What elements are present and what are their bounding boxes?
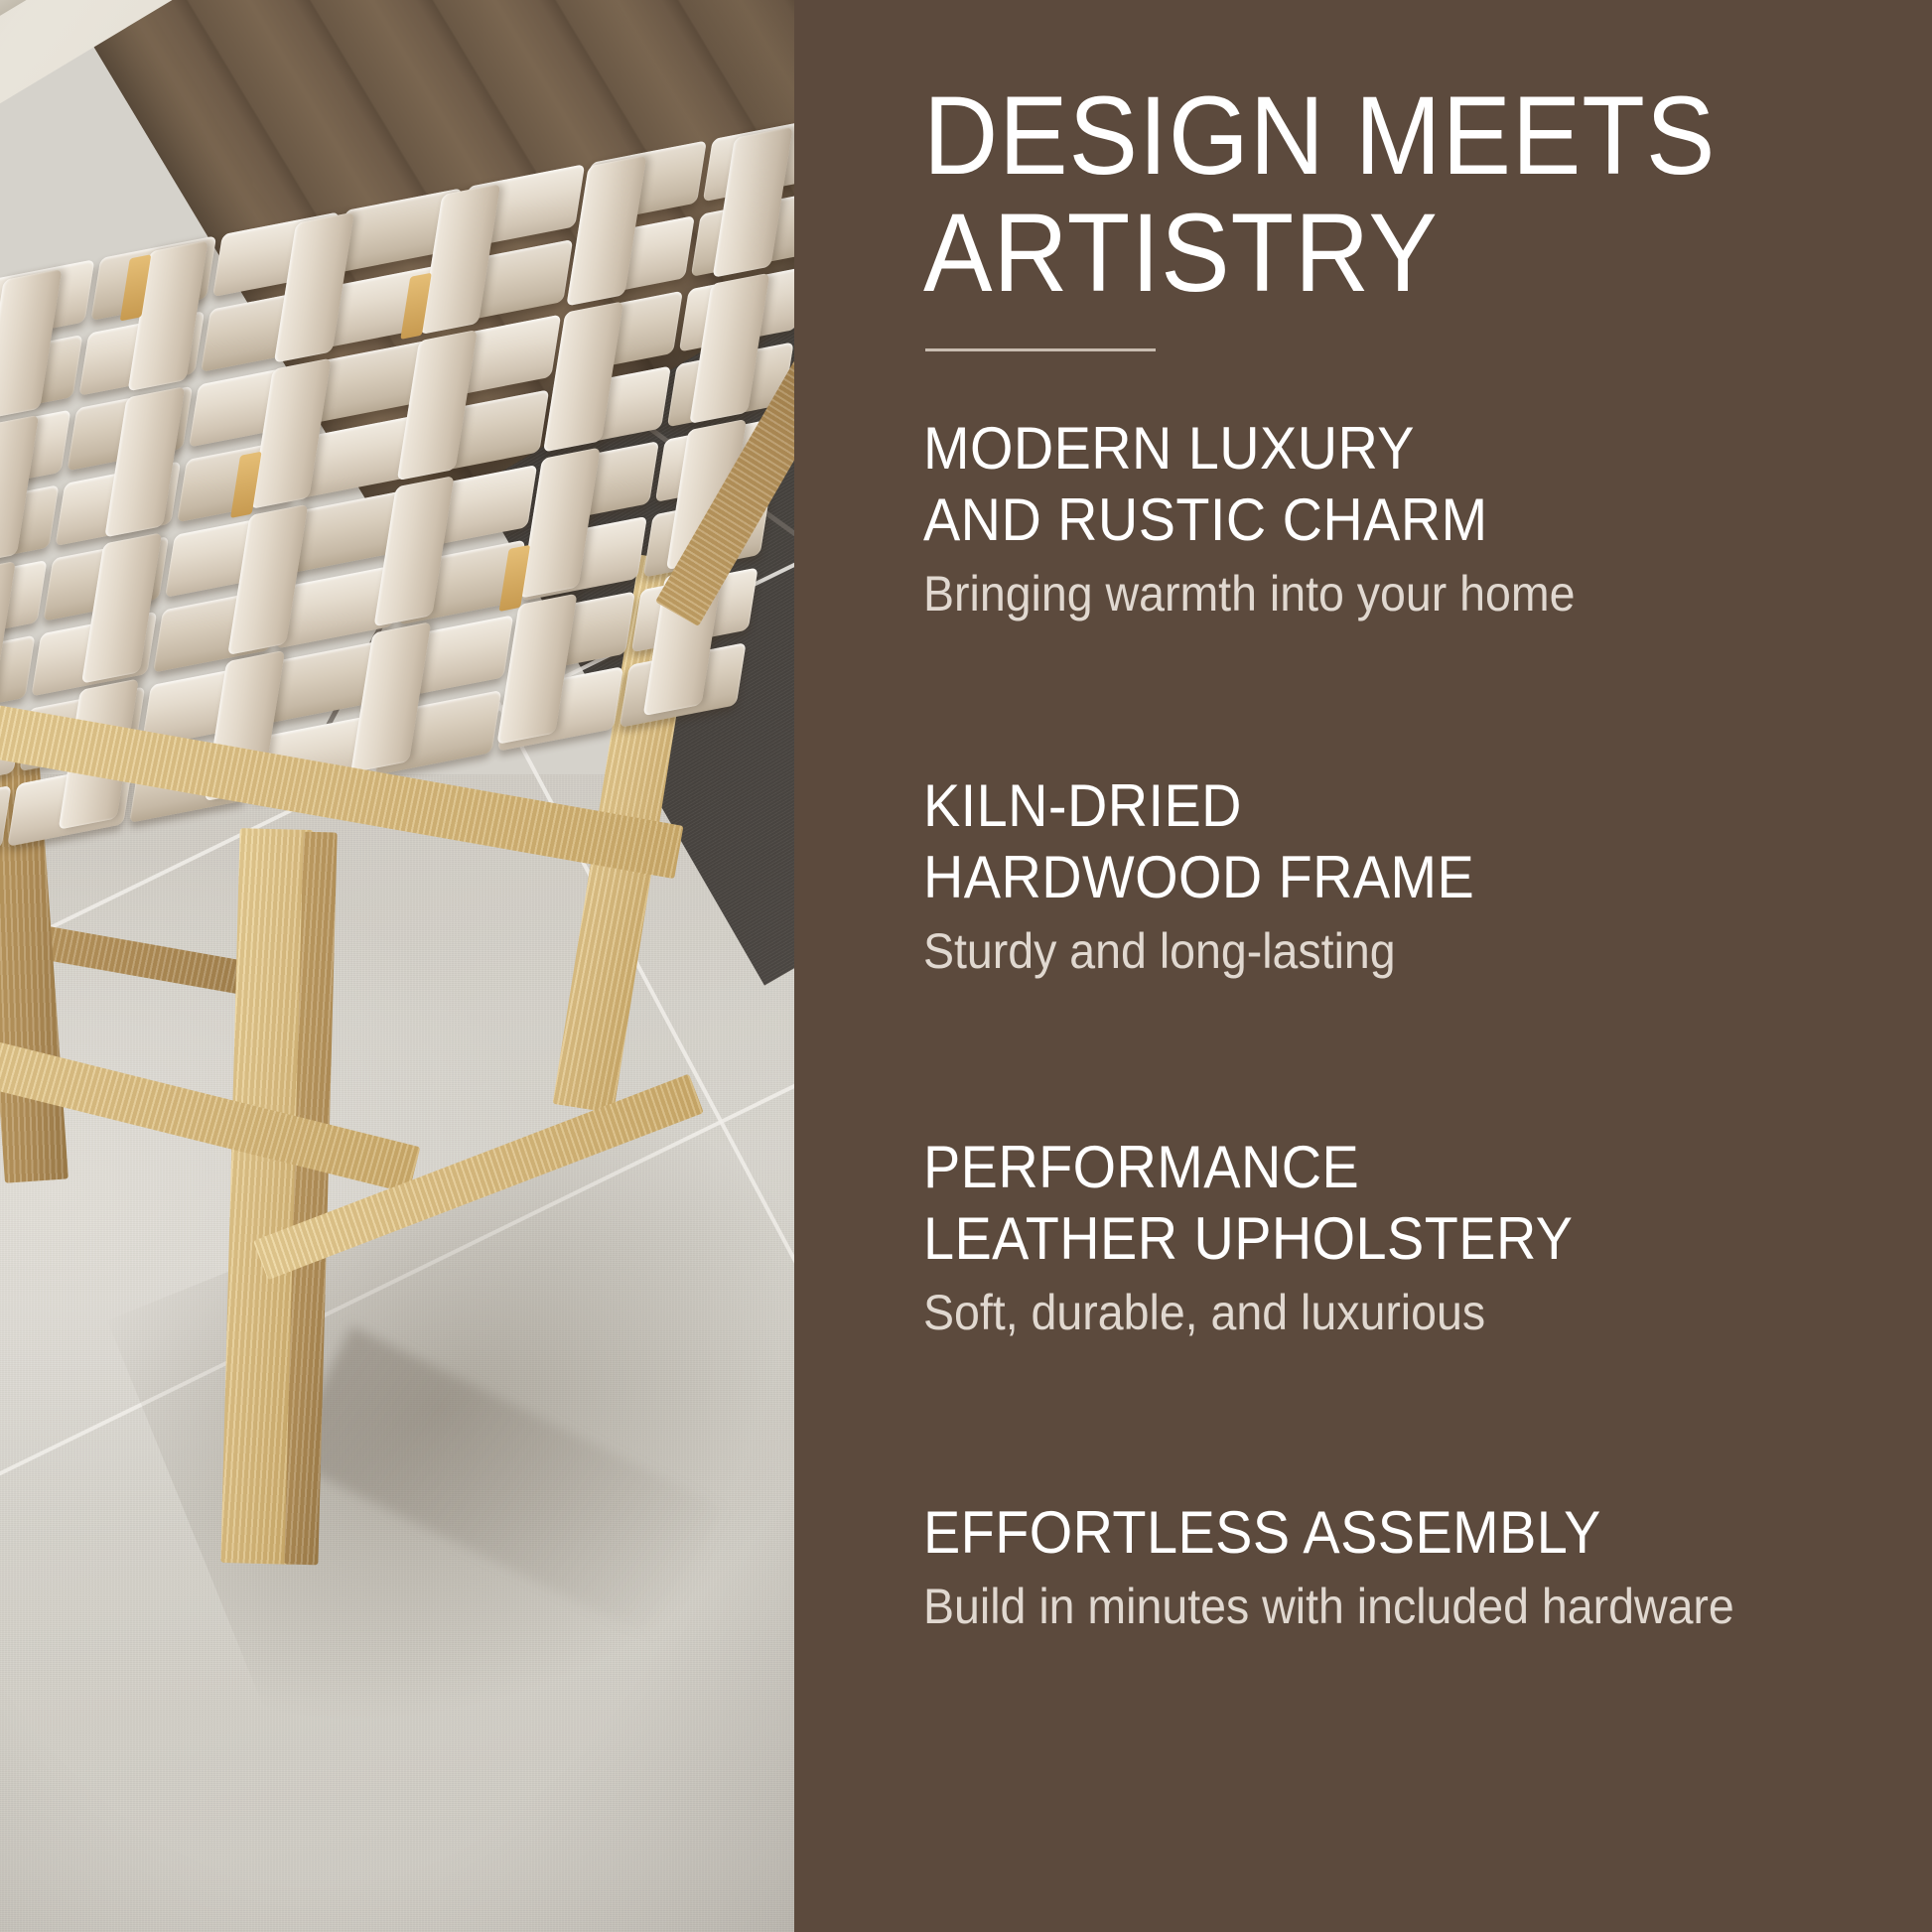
feature-subtitle: Sturdy and long-lasting: [923, 921, 1797, 981]
page-title: DESIGN MEETS ARTISTRY: [923, 77, 1797, 311]
feature-item-performance-leather: PERFORMANCE LEATHER UPHOLSTERY Soft, dur…: [923, 1132, 1863, 1342]
feature-item-effortless-assembly: EFFORTLESS ASSEMBLY Build in minutes wit…: [923, 1497, 1863, 1636]
feature-list: MODERN LUXURY AND RUSTIC CHARM Bringing …: [923, 413, 1863, 1636]
title-divider: [925, 348, 1156, 351]
feature-subtitle: Build in minutes with included hardware: [923, 1577, 1797, 1636]
feature-heading: MODERN LUXURY AND RUSTIC CHARM: [923, 413, 1797, 556]
feature-heading: EFFORTLESS ASSEMBLY: [923, 1497, 1797, 1569]
feature-item-modern-luxury: MODERN LUXURY AND RUSTIC CHARM Bringing …: [923, 413, 1863, 623]
product-photo: [0, 0, 794, 1932]
feature-text-panel: DESIGN MEETS ARTISTRY MODERN LUXURY AND …: [794, 0, 1932, 1932]
photo-vignette: [0, 0, 794, 1932]
feature-item-kiln-dried: KILN-DRIED HARDWOOD FRAME Sturdy and lon…: [923, 770, 1863, 981]
feature-subtitle: Bringing warmth into your home: [923, 564, 1797, 623]
product-feature-graphic: DESIGN MEETS ARTISTRY MODERN LUXURY AND …: [0, 0, 1932, 1932]
feature-heading: PERFORMANCE LEATHER UPHOLSTERY: [923, 1132, 1797, 1275]
feature-subtitle: Soft, durable, and luxurious: [923, 1283, 1797, 1342]
feature-heading: KILN-DRIED HARDWOOD FRAME: [923, 770, 1797, 913]
